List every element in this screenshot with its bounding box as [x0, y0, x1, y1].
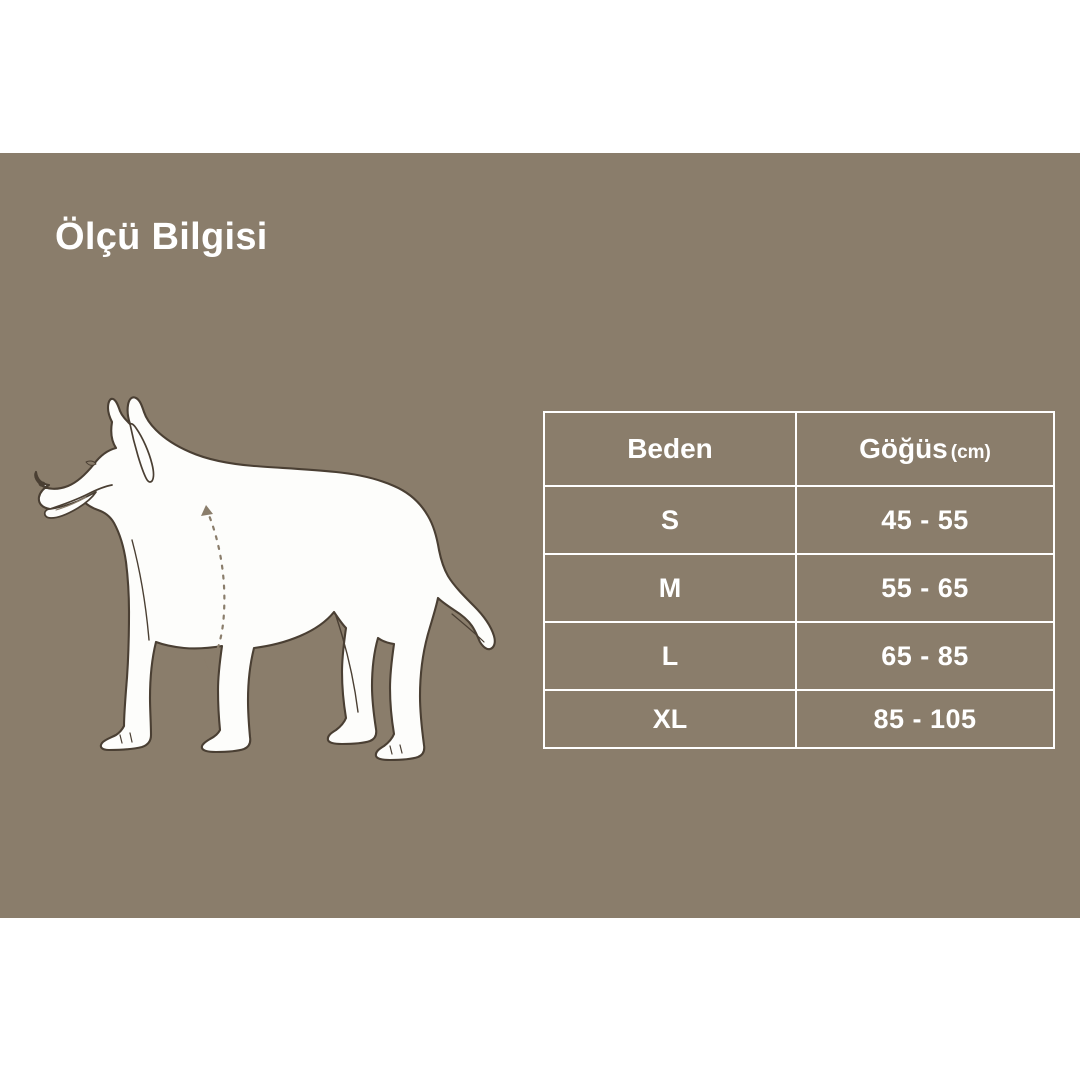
cell-size: L [544, 622, 796, 690]
dog-body-shape [35, 397, 495, 760]
dog-nose-icon [39, 481, 46, 486]
chest-girth-arrow-bottom-icon [204, 659, 216, 670]
size-chart-page: Ölçü Bilgisi [0, 0, 1080, 1080]
table-row: S 45 - 55 [544, 486, 1054, 554]
table-row: M 55 - 65 [544, 554, 1054, 622]
column-header-size-label: Beden [627, 433, 713, 464]
page-title: Ölçü Bilgisi [55, 216, 268, 259]
cell-chest: 45 - 55 [796, 486, 1054, 554]
column-header-chest: Göğüs(cm) [796, 412, 1054, 486]
size-table: Beden Göğüs(cm) S 45 - 55 M 55 - 65 L 65… [543, 411, 1055, 749]
cell-size: XL [544, 690, 796, 748]
cell-chest: 55 - 65 [796, 554, 1054, 622]
column-header-chest-unit: (cm) [951, 442, 991, 463]
dog-eye-icon [86, 461, 96, 465]
column-header-chest-label: Göğüs [859, 433, 948, 464]
cell-chest: 65 - 85 [796, 622, 1054, 690]
column-header-size: Beden [544, 412, 796, 486]
table-header-row: Beden Göğüs(cm) [544, 412, 1054, 486]
cell-chest: 85 - 105 [796, 690, 1054, 748]
table-row: XL 85 - 105 [544, 690, 1054, 748]
table-row: L 65 - 85 [544, 622, 1054, 690]
cell-size: M [544, 554, 796, 622]
dog-illustration [24, 390, 514, 770]
cell-size: S [544, 486, 796, 554]
